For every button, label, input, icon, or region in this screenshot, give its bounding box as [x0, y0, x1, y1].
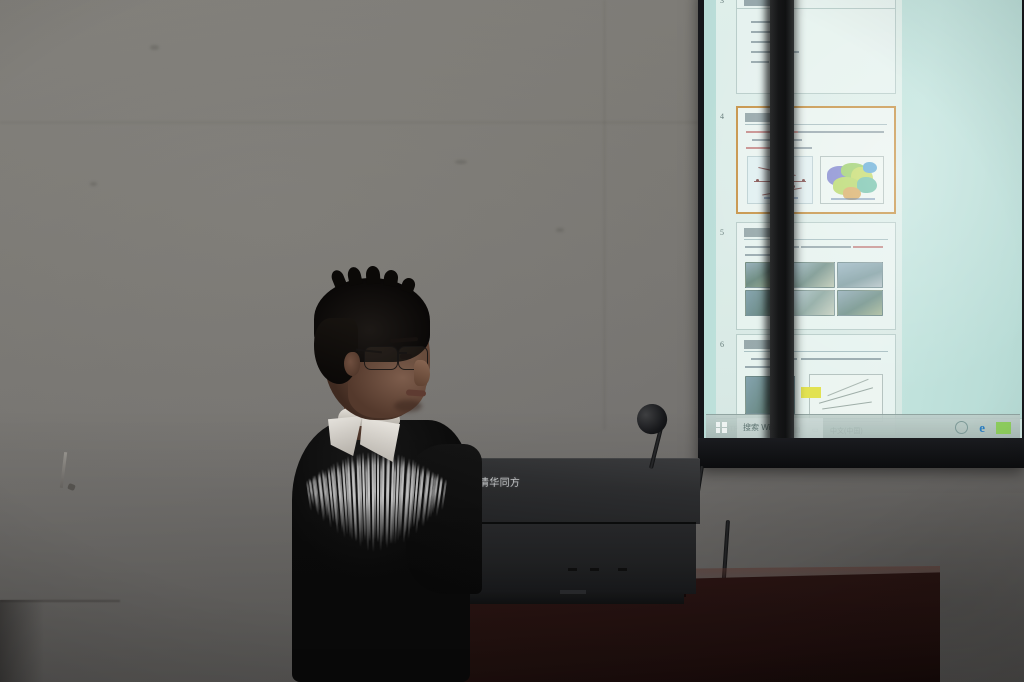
hair-spike: [365, 266, 380, 285]
presenter-ear: [344, 352, 360, 376]
slide-body-line: [798, 131, 884, 133]
green-app-icon[interactable]: [996, 422, 1011, 434]
slide-photo: [791, 290, 835, 316]
slide-number: 3: [720, 0, 724, 5]
start-button[interactable]: [706, 415, 736, 441]
monitor-port: [590, 568, 599, 571]
windows-logo-icon: [716, 422, 727, 433]
wall-seam: [604, 0, 605, 430]
obstructing-post: [770, 0, 794, 440]
slide-number: 6: [720, 340, 724, 349]
slide-number: 4: [720, 112, 724, 121]
wall-blemish: [90, 182, 97, 186]
monitor-port: [618, 568, 627, 571]
wall-corner-shadow: [0, 600, 44, 682]
cortana-icon[interactable]: [955, 421, 968, 434]
wall-baseboard-line: [0, 600, 120, 602]
monitor-badge: [560, 590, 586, 594]
wall-blemish: [455, 160, 467, 164]
slide-body-line: [801, 358, 881, 360]
slide-body-line: [853, 246, 883, 248]
highlight-marker: [801, 387, 821, 398]
wall-blemish: [556, 228, 564, 232]
edge-icon[interactable]: e: [979, 421, 985, 434]
wall-blemish: [150, 45, 159, 50]
projection-screen: 3 4: [698, 0, 1024, 468]
hair-spike: [346, 266, 362, 286]
slide-photo: [837, 262, 883, 288]
slide-thumbnail-pane[interactable]: 3 4: [716, 0, 902, 418]
presenter: [286, 268, 486, 682]
windows-taskbar: 搜索 Windows e: [706, 414, 1020, 440]
monitor-port: [568, 568, 577, 571]
screen-bottom-bezel: [698, 438, 1024, 468]
hair-spike: [383, 269, 399, 287]
presenter-eye: [400, 354, 412, 359]
slide-body-line: [801, 246, 851, 248]
presentation-canvas: 3 4: [704, 0, 1022, 440]
screen-surface: 3 4: [704, 0, 1022, 440]
slide-photo: [791, 262, 835, 288]
china-map-thumbnail: [820, 156, 884, 204]
sweater-pattern: [306, 446, 448, 556]
screenshot-root: 3 4: [0, 0, 1024, 682]
slide-photo: [837, 290, 883, 316]
taskbar-icons: e: [955, 421, 1020, 434]
presenter-nose: [414, 360, 430, 386]
slide-number: 5: [720, 228, 724, 237]
presenter-chin-shadow: [394, 400, 422, 412]
wall-seam: [0, 122, 700, 123]
